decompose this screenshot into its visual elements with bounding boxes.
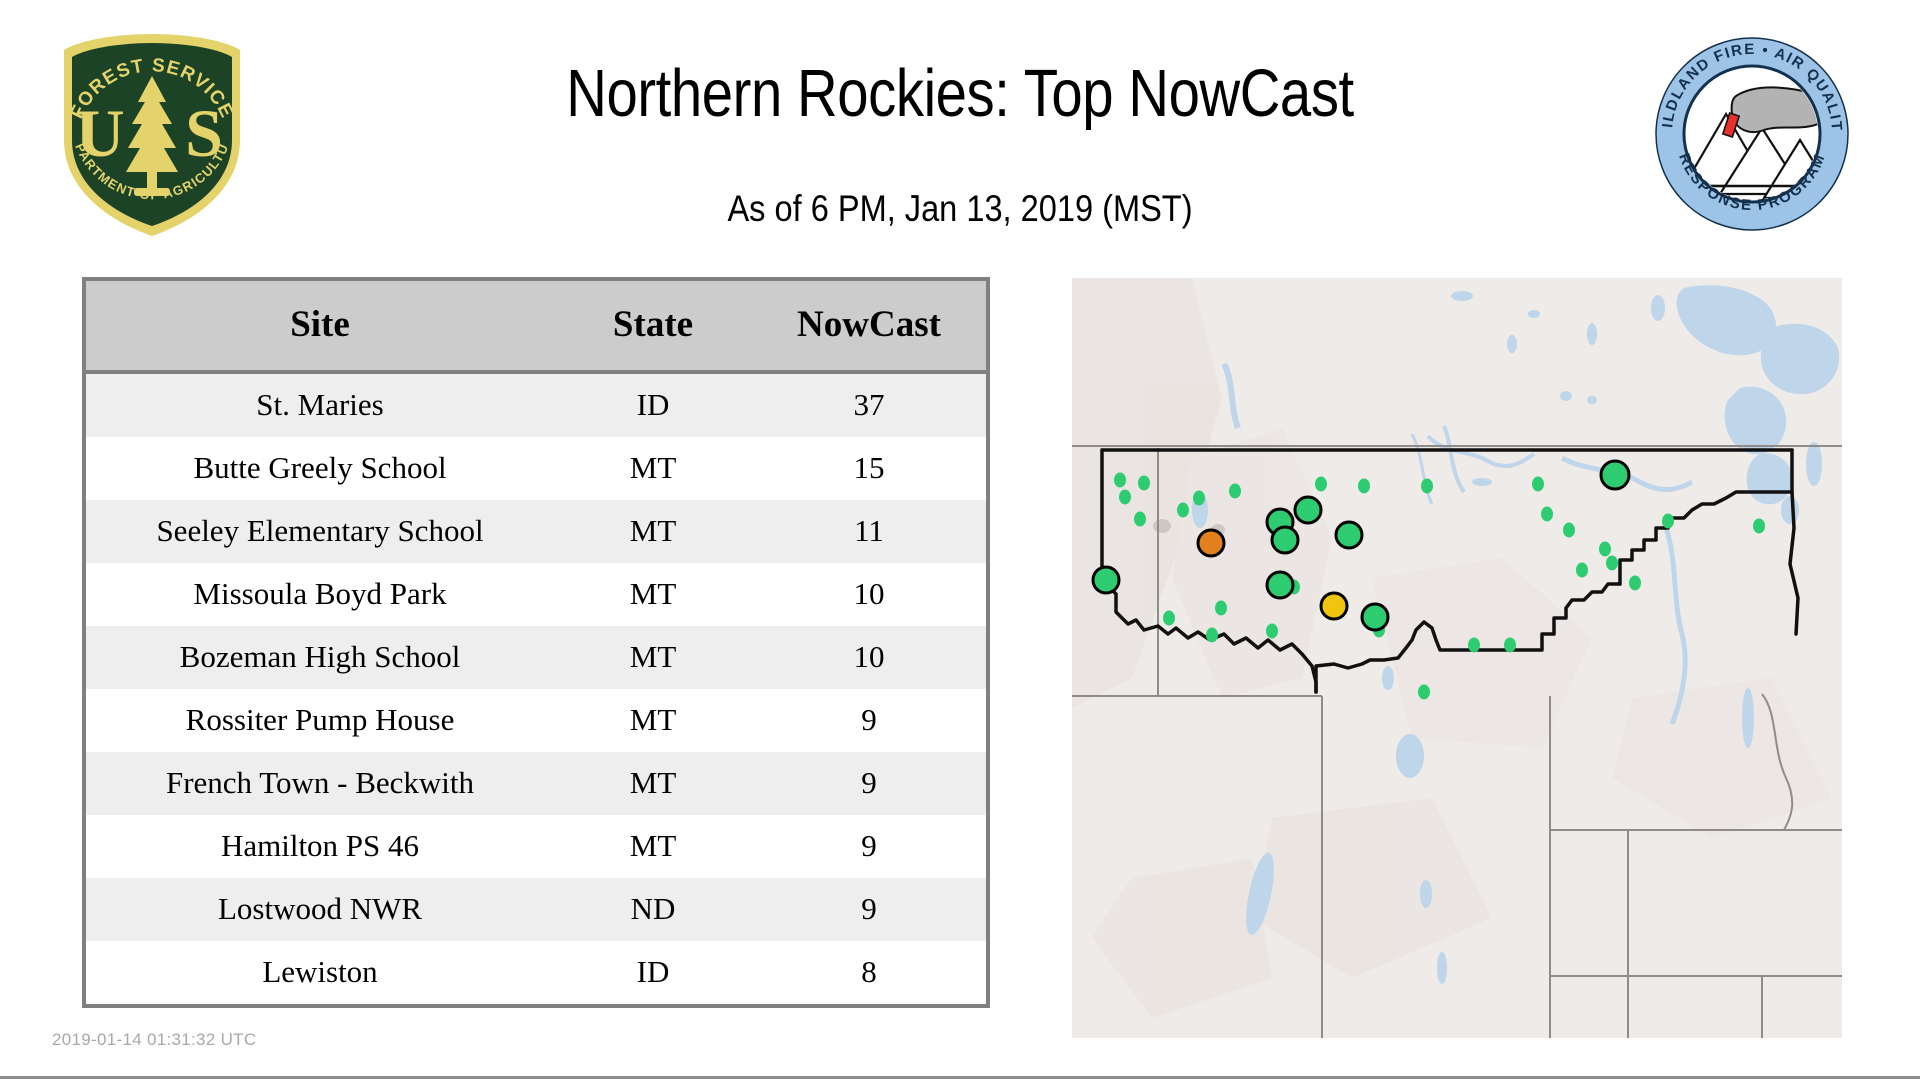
map-marker-large[interactable] (1093, 567, 1119, 593)
table-row[interactable]: LewistonID8 (86, 941, 986, 1004)
cell-state: MT (554, 689, 752, 752)
cell-nowcast: 37 (752, 372, 986, 437)
poster-canvas: FOREST SERVICE U S DEPARTMENT OF AGRICUL… (0, 0, 1920, 1080)
map-marker-small[interactable] (1532, 477, 1544, 492)
table-header-row: Site State NowCast (86, 281, 986, 372)
cell-nowcast: 9 (752, 815, 986, 878)
cell-state: MT (554, 563, 752, 626)
cell-nowcast: 10 (752, 563, 986, 626)
column-header-state[interactable]: State (554, 281, 752, 372)
cell-state: MT (554, 626, 752, 689)
map-marker-small[interactable] (1358, 479, 1370, 494)
table-row[interactable]: French Town - BeckwithMT9 (86, 752, 986, 815)
column-header-nowcast[interactable]: NowCast (752, 281, 986, 372)
table-row[interactable]: Hamilton PS 46MT9 (86, 815, 986, 878)
cell-site: Bozeman High School (86, 626, 554, 689)
map-marker-small[interactable] (1163, 611, 1175, 626)
map-marker-small[interactable] (1421, 479, 1433, 494)
map-marker-small[interactable] (1206, 628, 1218, 643)
map-marker-large[interactable] (1336, 522, 1362, 548)
cell-site: Butte Greely School (86, 437, 554, 500)
cell-site: Missoula Boyd Park (86, 563, 554, 626)
cell-site: Lewiston (86, 941, 554, 1004)
cell-state: MT (554, 815, 752, 878)
cell-site: French Town - Beckwith (86, 752, 554, 815)
cell-nowcast: 9 (752, 878, 986, 941)
map-panel[interactable] (1072, 278, 1842, 1038)
table-row[interactable]: St. MariesID37 (86, 372, 986, 437)
cell-state: MT (554, 752, 752, 815)
map-marker-small[interactable] (1418, 685, 1430, 700)
map-marker-small[interactable] (1215, 601, 1227, 616)
map-marker-small[interactable] (1576, 563, 1588, 578)
cell-state: ID (554, 372, 752, 437)
nowcast-table: Site State NowCast St. MariesID37Butte G… (82, 277, 990, 1008)
map-marker-small[interactable] (1629, 576, 1641, 591)
cell-state: MT (554, 500, 752, 563)
cell-site: St. Maries (86, 372, 554, 437)
map-marker-large[interactable] (1601, 461, 1629, 489)
map-marker-small[interactable] (1134, 512, 1146, 527)
column-header-site[interactable]: Site (86, 281, 554, 372)
page-subtitle: As of 6 PM, Jan 13, 2019 (MST) (115, 190, 1805, 227)
map-marker-small[interactable] (1468, 638, 1480, 653)
map-marker-large[interactable] (1198, 530, 1224, 556)
map-marker-small[interactable] (1662, 514, 1674, 529)
cell-state: MT (554, 437, 752, 500)
map-marker-small[interactable] (1563, 523, 1575, 538)
table-row[interactable]: Rossiter Pump HouseMT9 (86, 689, 986, 752)
table-row[interactable]: Butte Greely SchoolMT15 (86, 437, 986, 500)
cell-nowcast: 11 (752, 500, 986, 563)
cell-state: ND (554, 878, 752, 941)
table-row[interactable]: Lostwood NWRND9 (86, 878, 986, 941)
map-marker-small[interactable] (1599, 542, 1611, 557)
map-marker-small[interactable] (1119, 490, 1131, 505)
map-marker-small[interactable] (1606, 556, 1618, 571)
map-marker-large[interactable] (1295, 497, 1321, 523)
map-marker-small[interactable] (1193, 491, 1205, 506)
map-marker-large[interactable] (1272, 527, 1298, 553)
table-row[interactable]: Missoula Boyd ParkMT10 (86, 563, 986, 626)
cell-site: Lostwood NWR (86, 878, 554, 941)
map-marker-small[interactable] (1138, 476, 1150, 491)
bottom-divider (0, 1076, 1920, 1079)
map-marker-small[interactable] (1541, 507, 1553, 522)
cell-nowcast: 9 (752, 689, 986, 752)
map-marker-small[interactable] (1504, 638, 1516, 653)
map-marker-large[interactable] (1321, 593, 1347, 619)
table-row[interactable]: Seeley Elementary SchoolMT11 (86, 500, 986, 563)
cell-site: Rossiter Pump House (86, 689, 554, 752)
table-body: St. MariesID37Butte Greely SchoolMT15See… (86, 372, 986, 1004)
map-marker-large[interactable] (1267, 572, 1293, 598)
map-marker-small[interactable] (1266, 624, 1278, 639)
page-title: Northern Rockies: Top NowCast (154, 60, 1767, 127)
cell-nowcast: 8 (752, 941, 986, 1004)
cell-nowcast: 15 (752, 437, 986, 500)
map-marker-small[interactable] (1315, 477, 1327, 492)
map-marker-small[interactable] (1177, 503, 1189, 518)
map-marker-small[interactable] (1753, 519, 1765, 534)
table-row[interactable]: Bozeman High SchoolMT10 (86, 626, 986, 689)
cell-state: ID (554, 941, 752, 1004)
footer-timestamp: 2019-01-14 01:31:32 UTC (52, 1030, 256, 1050)
map-marker-small[interactable] (1229, 484, 1241, 499)
cell-nowcast: 10 (752, 626, 986, 689)
cell-nowcast: 9 (752, 752, 986, 815)
cell-site: Hamilton PS 46 (86, 815, 554, 878)
map-marker-small[interactable] (1114, 473, 1126, 488)
map-marker-large[interactable] (1362, 604, 1388, 630)
cell-site: Seeley Elementary School (86, 500, 554, 563)
